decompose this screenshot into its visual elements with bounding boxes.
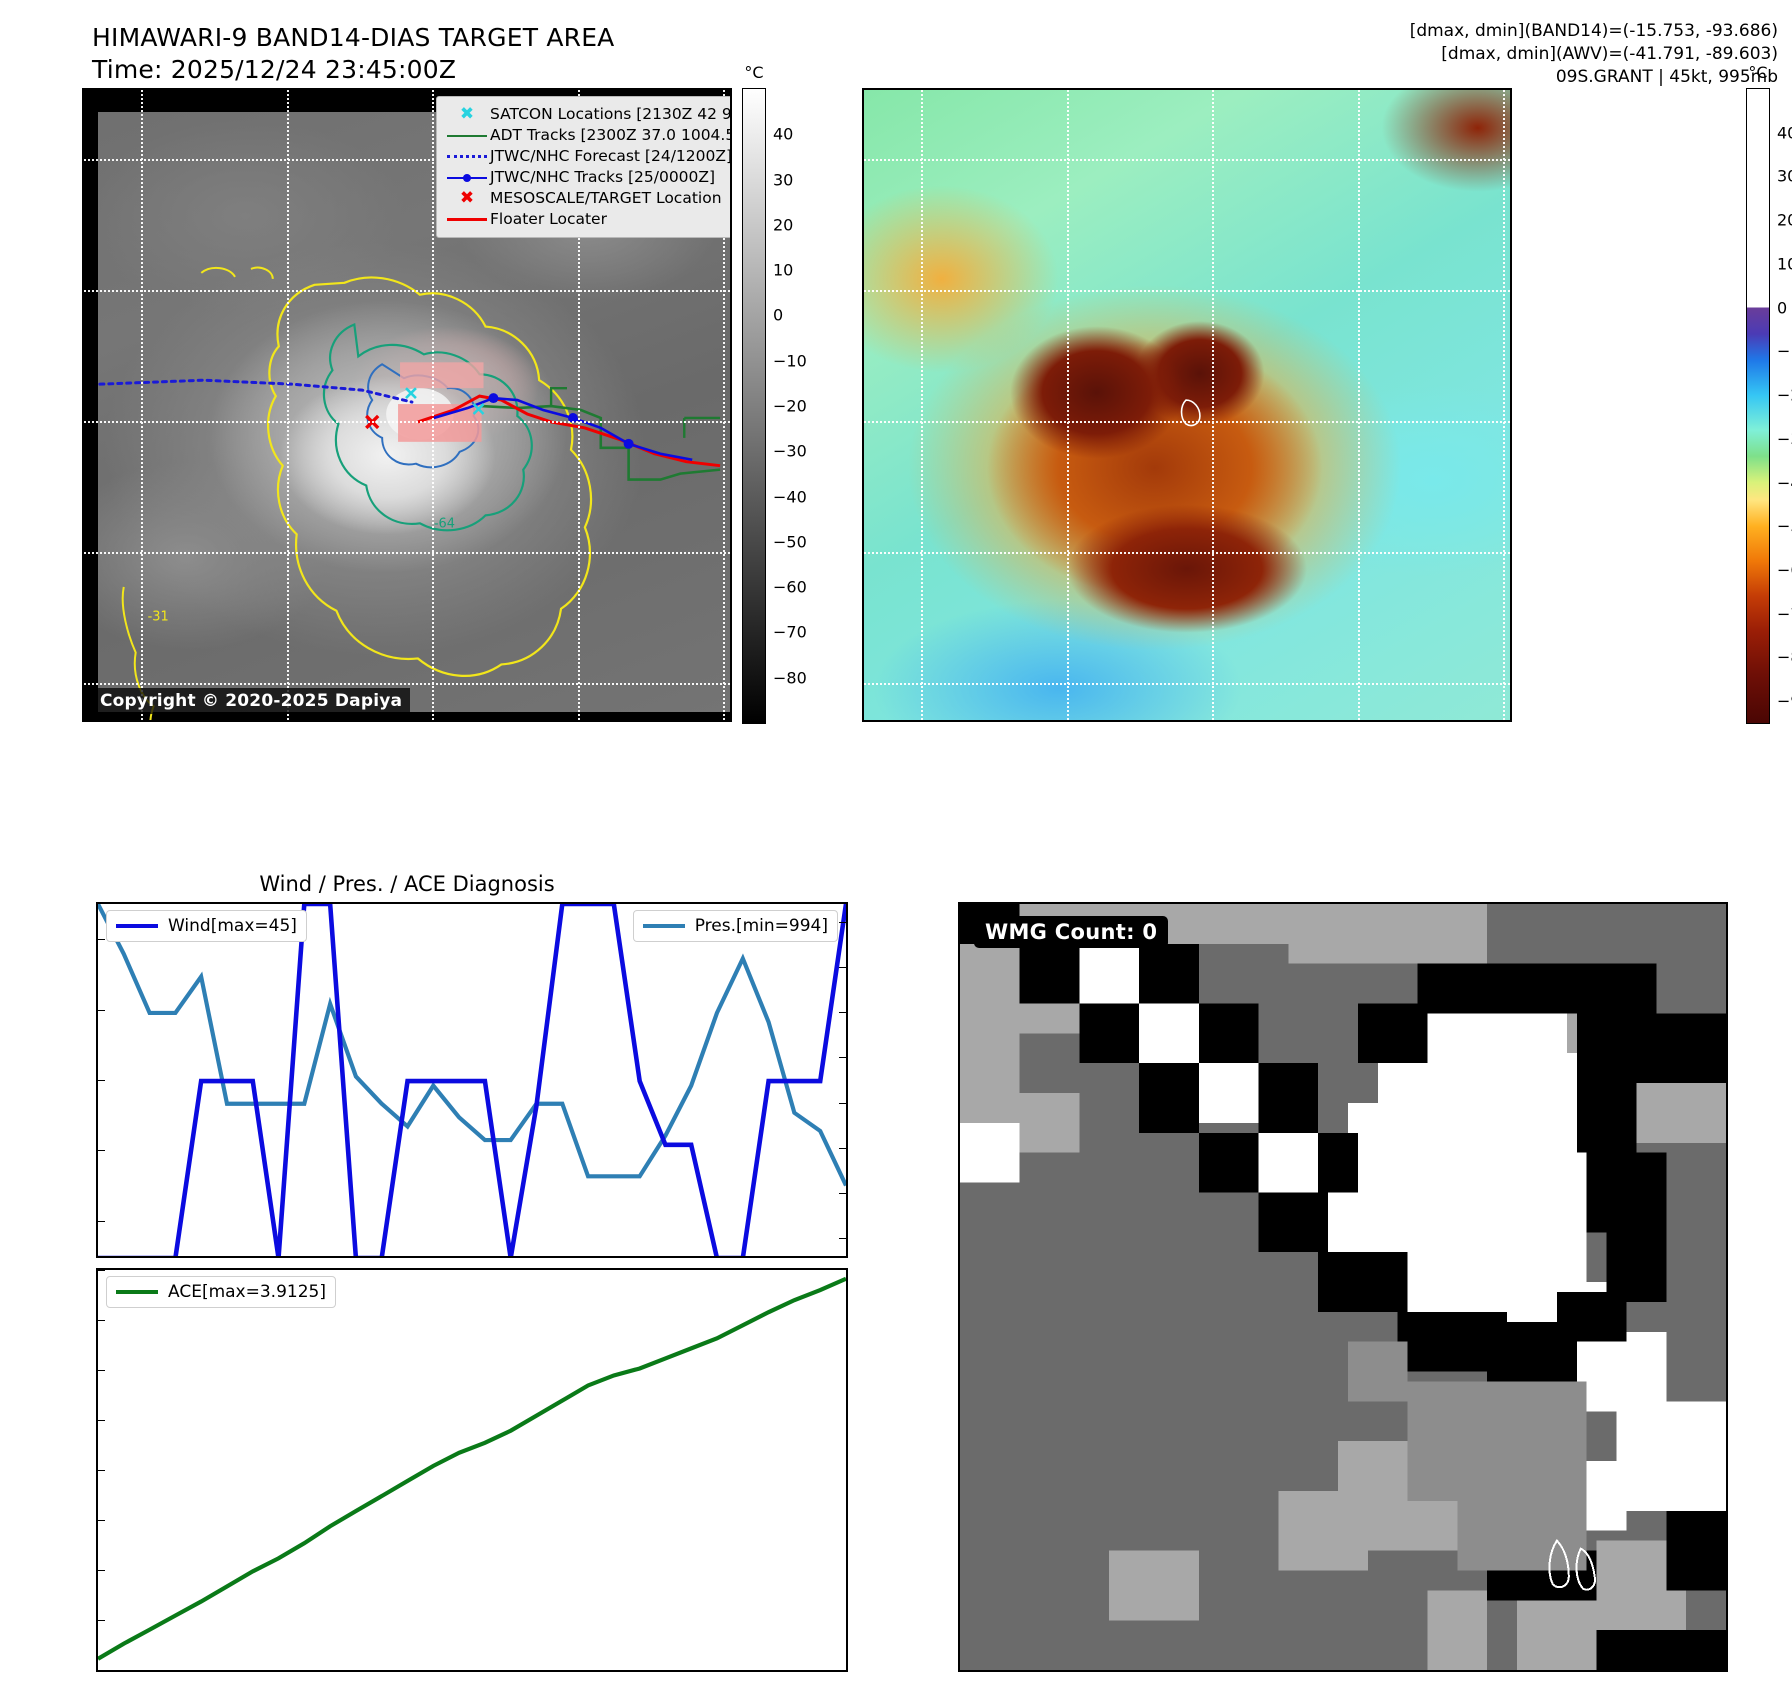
tick-mark — [98, 1470, 105, 1471]
colorbar-tick: −30 — [1777, 429, 1792, 448]
copyright-text: Copyright © 2020-2025 Dapiya — [92, 688, 410, 714]
tick-mark — [98, 1270, 105, 1271]
tick-mark — [98, 1420, 105, 1421]
legend-row-satcon: ✖ SATCON Locations [2130Z 42 997] — [444, 104, 732, 125]
pressure-legend-label: Pres.[min=994] — [695, 916, 828, 936]
legend-label: Floater Locater — [490, 209, 607, 230]
ace-swatch — [116, 1290, 158, 1294]
tick-mark — [839, 1193, 846, 1194]
wind-pressure-lines — [98, 904, 846, 1258]
tick-mark — [839, 1012, 846, 1013]
ace-chart[interactable]: ACE[max=3.9125] 00.511.522.533.54 ACE — [96, 1268, 848, 1672]
wmg-cloud-cluster-map[interactable]: WMG Count: 0 — [958, 902, 1728, 1672]
band14-grayscale-map[interactable]: -64 -31 ✖ SATCON Locations [2130Z 42 997… — [82, 88, 732, 722]
pressure-legend[interactable]: Pres.[min=994] — [633, 910, 838, 942]
tick-mark — [839, 1057, 846, 1058]
tick-mark — [98, 939, 105, 940]
meta-awv-range: [dmax, dmin](AWV)=(-41.791, -89.603) — [1410, 43, 1778, 66]
x-marker-icon: ✖ — [444, 188, 490, 209]
metadata-block: [dmax, dmin](BAND14)=(-15.753, -93.686) … — [1410, 20, 1778, 89]
wmg-blocks — [960, 904, 1726, 1670]
colorbar-tick: −60 — [1777, 560, 1792, 579]
wind-swatch — [116, 924, 158, 928]
colorbar-tick: −80 — [773, 668, 807, 687]
contour-label: -64 — [434, 516, 455, 531]
colorbar-tick: 0 — [773, 306, 783, 325]
legend-row-adt: ADT Tracks [2300Z 37.0 1004.5] — [444, 125, 732, 146]
colorbar-tick: −50 — [1777, 517, 1792, 536]
colorbar-tick: 40 — [773, 125, 793, 144]
legend-label: JTWC/NHC Tracks [25/0000Z] — [490, 167, 715, 188]
time-line: Time: 2025/12/24 23:45:00Z — [92, 54, 615, 86]
ace-line — [98, 1270, 846, 1672]
tick-mark — [98, 1320, 105, 1321]
map-legend[interactable]: ✖ SATCON Locations [2130Z 42 997] ADT Tr… — [436, 96, 732, 238]
meta-band14-range: [dmax, dmin](BAND14)=(-15.753, -93.686) — [1410, 20, 1778, 43]
colorbar-tick: −40 — [773, 487, 807, 506]
tick-mark — [98, 1620, 105, 1621]
colorbar-tick: 20 — [773, 215, 793, 234]
legend-label: ADT Tracks [2300Z 37.0 1004.5] — [490, 125, 732, 146]
tick-mark — [98, 1010, 105, 1011]
colorbar-tick: 30 — [1777, 167, 1792, 186]
colorbar-tick: 30 — [773, 170, 793, 189]
legend-label: SATCON Locations [2130Z 42 997] — [490, 104, 732, 125]
colorbar-unit: °C — [1748, 63, 1767, 82]
solid-line-icon — [444, 135, 490, 137]
colorbar-grayscale: °C 403020100−10−20−30−40−50−60−70−80 — [742, 88, 766, 724]
colorbar-tick: 0 — [1777, 298, 1787, 317]
colorbar-tick: −10 — [1777, 342, 1792, 361]
colorbar-tick: −70 — [1777, 604, 1792, 623]
legend-label: MESOSCALE/TARGET Location — [490, 188, 722, 209]
legend-label: JTWC/NHC Forecast [24/1200Z] — [490, 146, 732, 167]
tick-mark — [98, 1520, 105, 1521]
colorbar-tick: −30 — [773, 442, 807, 461]
wind-legend-label: Wind[max=45] — [168, 916, 297, 936]
title-line: HIMAWARI-9 BAND14-DIAS TARGET AREA — [92, 22, 615, 54]
colorbar-tick: −40 — [1777, 473, 1792, 492]
colorbar-tick: 40 — [1777, 123, 1792, 142]
colorbar-tick: −10 — [773, 351, 807, 370]
pressure-swatch — [643, 924, 685, 928]
ace-legend-label: ACE[max=3.9125] — [168, 1282, 326, 1302]
tick-mark — [839, 1148, 846, 1149]
enhanced-ir-map[interactable]: 8°S 10°S 12°S 14°S 16°S 92°E 94°E 96°E 9… — [862, 88, 1512, 722]
solid-line-icon — [444, 218, 490, 221]
tick-mark — [839, 922, 846, 923]
colorbar-enhanced-ir: °C 403020100−10−20−30−40−50−60−70−80−90 — [1746, 88, 1770, 724]
wind-legend[interactable]: Wind[max=45] — [106, 910, 307, 942]
colorbar-tick: −60 — [773, 578, 807, 597]
colorbar-tick: 10 — [773, 261, 793, 280]
tick-mark — [839, 1103, 846, 1104]
tick-mark — [98, 1570, 105, 1571]
tick-mark — [98, 1670, 105, 1671]
tick-mark — [839, 967, 846, 968]
colorbar-tick: 10 — [1777, 254, 1792, 273]
page-title: HIMAWARI-9 BAND14-DIAS TARGET AREA Time:… — [92, 22, 615, 86]
dashboard-root: HIMAWARI-9 BAND14-DIAS TARGET AREA Time:… — [0, 0, 1792, 1690]
wind-pressure-chart[interactable]: Wind[max=45] Pres.[min=994] 3638404244 9… — [96, 902, 848, 1258]
wmg-count-badge: WMG Count: 0 — [974, 916, 1168, 948]
tick-mark — [98, 1370, 105, 1371]
colorbar-tick: −70 — [773, 623, 807, 642]
meta-storm-summary: 09S.GRANT | 45kt, 995mb — [1410, 66, 1778, 89]
ace-legend[interactable]: ACE[max=3.9125] — [106, 1276, 336, 1308]
eye-outline-overlay — [864, 90, 1510, 720]
legend-row-forecast: JTWC/NHC Forecast [24/1200Z] — [444, 146, 732, 167]
colorbar-tick: −20 — [1777, 386, 1792, 405]
contour-label: -31 — [148, 610, 169, 625]
legend-row-floater: Floater Locater — [444, 209, 732, 230]
diagnosis-title: Wind / Pres. / ACE Diagnosis — [259, 872, 554, 896]
colorbar-tick: −80 — [1777, 648, 1792, 667]
colorbar-tick: 20 — [1777, 211, 1792, 230]
tick-mark — [98, 1080, 105, 1081]
colorbar-tick: −90 — [1777, 692, 1792, 711]
tick-mark — [839, 1238, 846, 1239]
colorbar-tick: −20 — [773, 397, 807, 416]
legend-row-mesoscale: ✖ MESOSCALE/TARGET Location — [444, 188, 732, 209]
tick-mark — [98, 1150, 105, 1151]
x-marker-icon: ✖ — [444, 104, 490, 125]
colorbar-unit: °C — [744, 63, 763, 82]
tick-mark — [98, 1221, 105, 1222]
legend-row-jtwc-tracks: JTWC/NHC Tracks [25/0000Z] — [444, 167, 732, 188]
colorbar-tick: −50 — [773, 532, 807, 551]
line-with-dot-icon — [444, 173, 490, 183]
dotted-line-icon — [444, 155, 490, 158]
